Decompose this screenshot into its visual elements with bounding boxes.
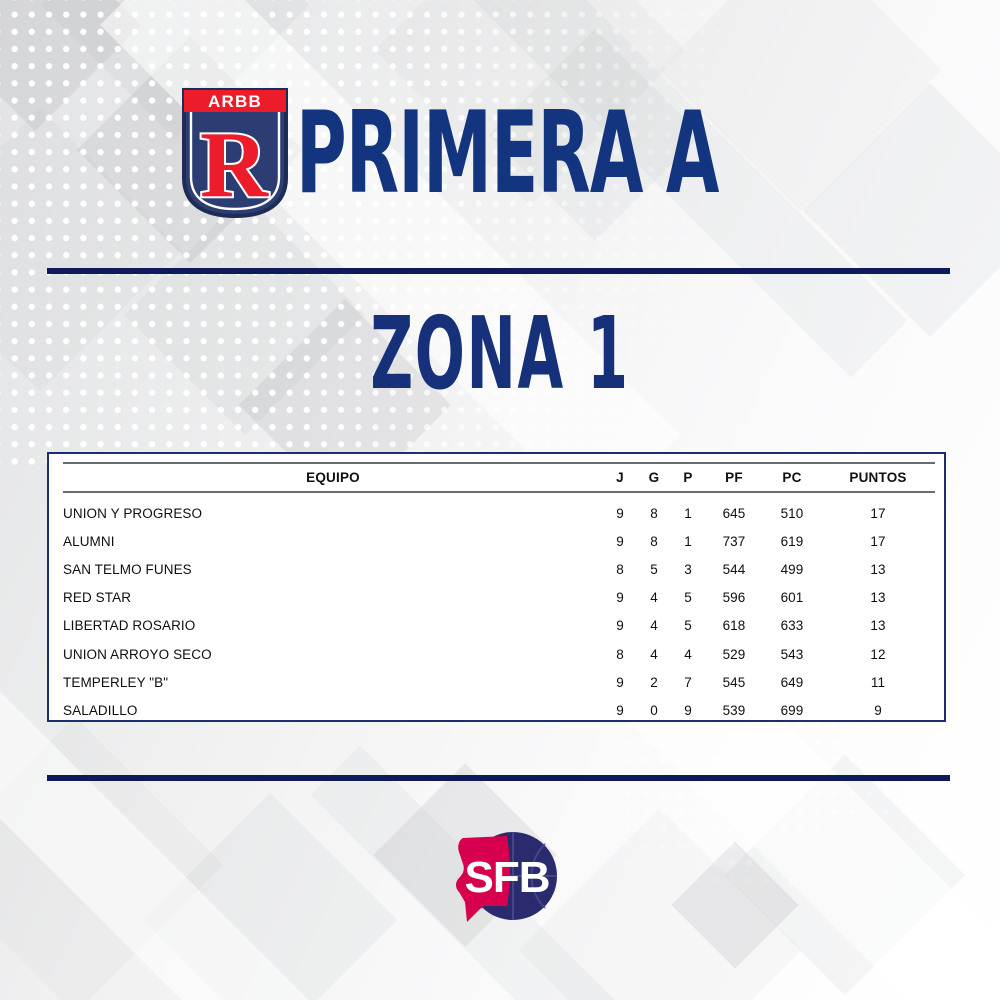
cell-pc: 699	[763, 696, 821, 724]
cell-team: UNION Y PROGRESO	[63, 492, 603, 527]
cell-p: 4	[671, 640, 705, 668]
cell-p: 3	[671, 555, 705, 583]
svg-text:ARBB: ARBB	[208, 92, 262, 111]
cell-puntos: 12	[821, 640, 935, 668]
cell-pf: 545	[705, 668, 763, 696]
cell-g: 4	[637, 584, 671, 612]
table-header: EQUIPO J G P PF PC PUNTOS	[63, 463, 935, 492]
cell-pf: 645	[705, 492, 763, 527]
poster-header: ARBB R PRIMERA A	[0, 78, 1000, 228]
cell-pf: 529	[705, 640, 763, 668]
cell-g: 5	[637, 555, 671, 583]
cell-p: 9	[671, 696, 705, 724]
table-row: UNION ARROYO SECO 8 4 4 529 543 12	[63, 640, 935, 668]
cell-j: 9	[603, 696, 637, 724]
column-header-p: P	[671, 463, 705, 492]
cell-puntos: 13	[821, 584, 935, 612]
table-row: ALUMNI 9 8 1 737 619 17	[63, 527, 935, 555]
cell-pc: 543	[763, 640, 821, 668]
cell-puntos: 11	[821, 668, 935, 696]
cell-g: 4	[637, 640, 671, 668]
cell-pf: 539	[705, 696, 763, 724]
cell-p: 5	[671, 612, 705, 640]
cell-team: RED STAR	[63, 584, 603, 612]
column-header-j: J	[603, 463, 637, 492]
cell-pc: 499	[763, 555, 821, 583]
cell-team: LIBERTAD ROSARIO	[63, 612, 603, 640]
column-header-pc: PC	[763, 463, 821, 492]
table-body: UNION Y PROGRESO 9 8 1 645 510 17 ALUMNI…	[63, 492, 935, 725]
table-row: RED STAR 9 4 5 596 601 13	[63, 584, 935, 612]
cell-pc: 510	[763, 492, 821, 527]
cell-team: ALUMNI	[63, 527, 603, 555]
cell-pf: 544	[705, 555, 763, 583]
column-header-equipo: EQUIPO	[63, 463, 603, 492]
svg-text:SFB: SFB	[465, 853, 550, 902]
cell-pc: 619	[763, 527, 821, 555]
page-title: PRIMERA A	[296, 101, 719, 205]
table-row: SALADILLO 9 0 9 539 699 9	[63, 696, 935, 724]
header-row: EQUIPO J G P PF PC PUNTOS	[63, 463, 935, 492]
cell-pf: 596	[705, 584, 763, 612]
divider-top	[47, 268, 950, 274]
cell-pc: 633	[763, 612, 821, 640]
zone-title: ZONA 1	[100, 305, 900, 405]
standings-table: EQUIPO J G P PF PC PUNTOS UNION Y PROGRE…	[63, 462, 935, 725]
cell-puntos: 13	[821, 555, 935, 583]
cell-j: 9	[603, 527, 637, 555]
cell-pf: 618	[705, 612, 763, 640]
background-dot-pattern-secondary	[620, 700, 1000, 900]
cell-team: SALADILLO	[63, 696, 603, 724]
cell-g: 8	[637, 527, 671, 555]
sfb-logo: SFB	[437, 824, 563, 928]
divider-bottom	[47, 775, 950, 781]
column-header-pf: PF	[705, 463, 763, 492]
table-row: LIBERTAD ROSARIO 9 4 5 618 633 13	[63, 612, 935, 640]
cell-g: 0	[637, 696, 671, 724]
cell-g: 8	[637, 492, 671, 527]
table-row: UNION Y PROGRESO 9 8 1 645 510 17	[63, 492, 935, 527]
cell-pc: 601	[763, 584, 821, 612]
cell-j: 8	[603, 555, 637, 583]
cell-g: 4	[637, 612, 671, 640]
cell-j: 9	[603, 668, 637, 696]
cell-j: 8	[603, 640, 637, 668]
svg-text:R: R	[200, 113, 269, 217]
poster-root: ARBB R PRIMERA A ZONA 1 EQUIPO J G P PF	[0, 0, 1000, 1000]
cell-j: 9	[603, 612, 637, 640]
cell-puntos: 13	[821, 612, 935, 640]
cell-p: 1	[671, 492, 705, 527]
column-header-puntos: PUNTOS	[821, 463, 935, 492]
table-row: SAN TELMO FUNES 8 5 3 544 499 13	[63, 555, 935, 583]
table-row: TEMPERLEY "B" 9 2 7 545 649 11	[63, 668, 935, 696]
cell-j: 9	[603, 584, 637, 612]
cell-pc: 649	[763, 668, 821, 696]
cell-puntos: 9	[821, 696, 935, 724]
cell-pf: 737	[705, 527, 763, 555]
column-header-g: G	[637, 463, 671, 492]
cell-team: TEMPERLEY "B"	[63, 668, 603, 696]
cell-g: 2	[637, 668, 671, 696]
cell-p: 1	[671, 527, 705, 555]
cell-team: SAN TELMO FUNES	[63, 555, 603, 583]
cell-p: 7	[671, 668, 705, 696]
arbb-crest-logo: ARBB R	[176, 82, 294, 224]
cell-team: UNION ARROYO SECO	[63, 640, 603, 668]
cell-j: 9	[603, 492, 637, 527]
cell-puntos: 17	[821, 527, 935, 555]
cell-puntos: 17	[821, 492, 935, 527]
standings-panel: EQUIPO J G P PF PC PUNTOS UNION Y PROGRE…	[47, 452, 946, 722]
cell-p: 5	[671, 584, 705, 612]
